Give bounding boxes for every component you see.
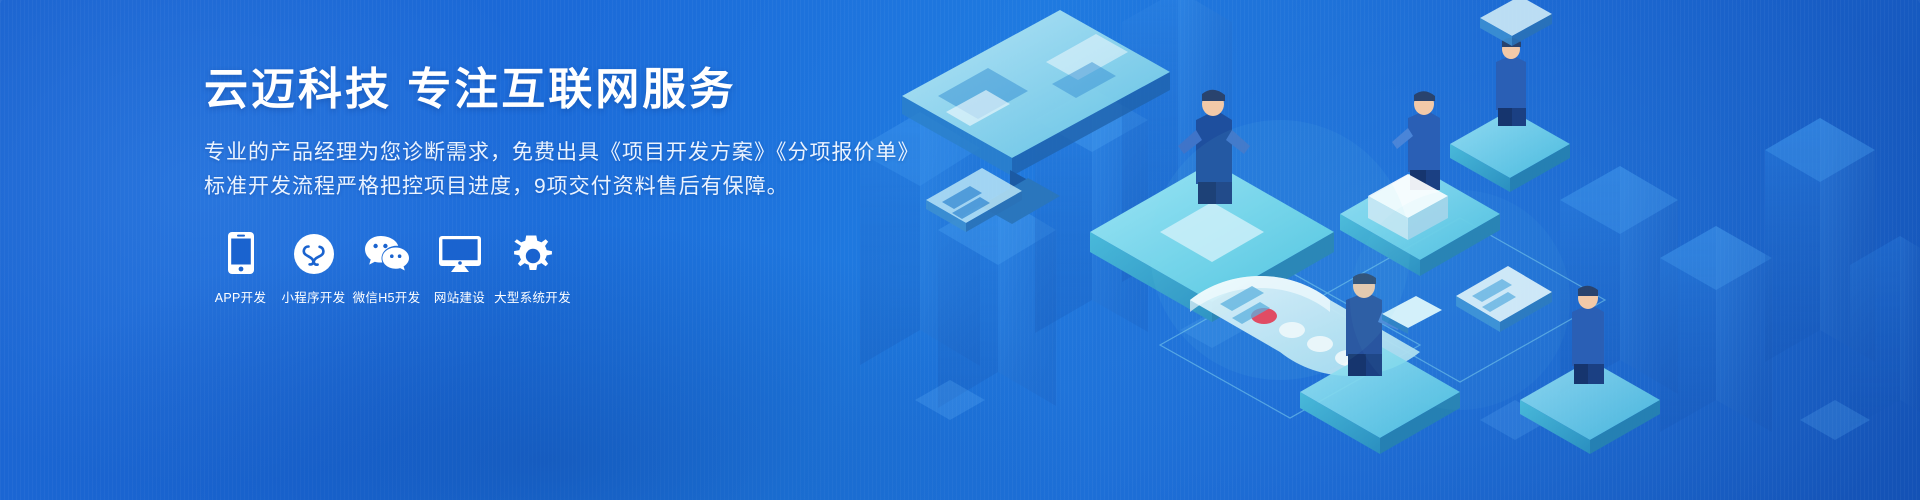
- banner-copy: 云迈科技 专注互联网服务 专业的产品经理为您诊断需求，免费出具《项目开发方案》《…: [204, 64, 924, 204]
- promo-banner: 云迈科技 专注互联网服务 专业的产品经理为您诊断需求，免费出具《项目开发方案》《…: [0, 0, 1920, 500]
- service-item-app[interactable]: APP开发: [204, 228, 277, 306]
- service-item-wechat[interactable]: 微信H5开发: [350, 228, 423, 306]
- wechat-icon: [364, 228, 410, 274]
- service-list: APP开发 小程序开发: [204, 228, 569, 306]
- service-label: APP开发: [215, 287, 267, 306]
- banner-headline: 云迈科技 专注互联网服务: [204, 64, 924, 116]
- mini-program-icon: [291, 228, 337, 274]
- service-label: 小程序开发: [281, 287, 345, 306]
- service-label: 微信H5开发: [353, 287, 421, 306]
- banner-subtitle: 专业的产品经理为您诊断需求，免费出具《项目开发方案》《分项报价单》 标准开发流程…: [204, 136, 924, 204]
- monitor-icon: [437, 228, 483, 274]
- mobile-phone-icon: [218, 228, 264, 274]
- service-item-website[interactable]: 网站建设: [423, 228, 496, 306]
- service-item-mini-program[interactable]: 小程序开发: [277, 228, 350, 306]
- subtitle-line-2: 标准开发流程严格把控项目进度，9项交付资料售后有保障。: [204, 170, 924, 204]
- gear-icon: [510, 228, 556, 274]
- service-item-large-system[interactable]: 大型系统开发: [496, 228, 569, 306]
- service-label: 网站建设: [434, 287, 485, 306]
- isometric-tech-illustration: [860, 0, 1920, 500]
- service-label: 大型系统开发: [494, 287, 571, 306]
- subtitle-line-1: 专业的产品经理为您诊断需求，免费出具《项目开发方案》《分项报价单》: [204, 136, 924, 170]
